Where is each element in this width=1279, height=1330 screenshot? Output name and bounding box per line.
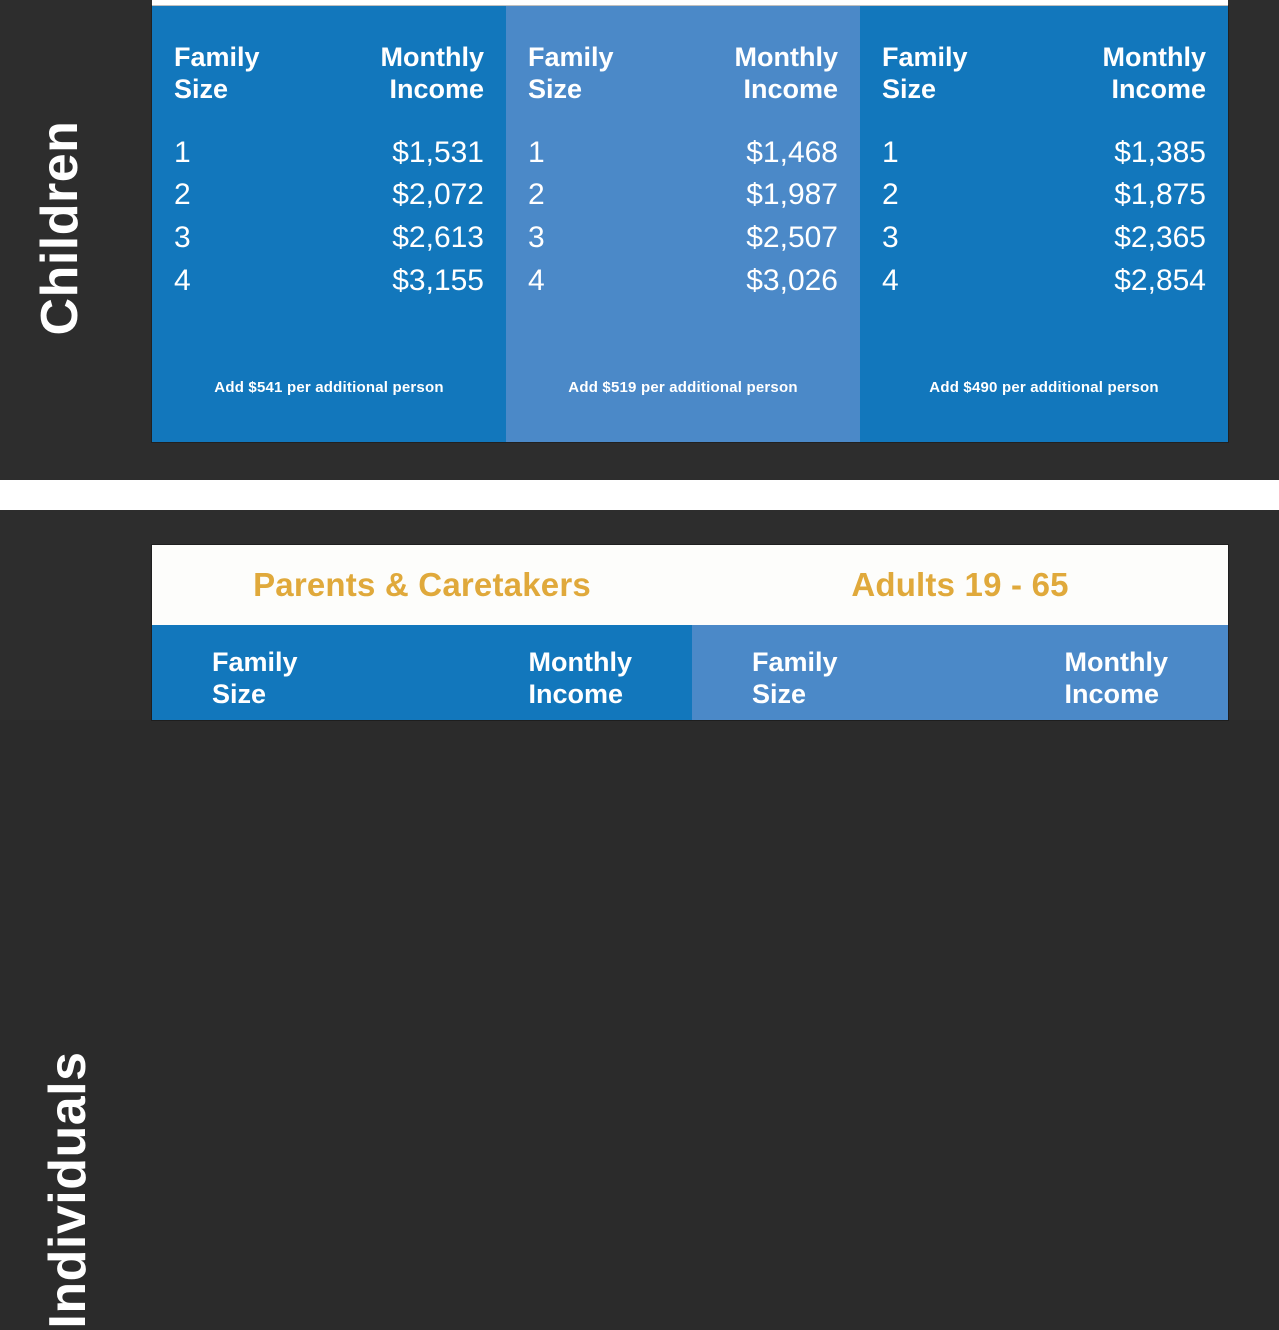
title-parents-caretakers: Parents & Caretakers bbox=[152, 545, 692, 625]
table-row: 1 $1,468 bbox=[528, 132, 838, 175]
children-column-2: Family Size Monthly Income 1 $1,468 2 bbox=[506, 6, 860, 442]
row-family-size: 3 bbox=[528, 217, 545, 260]
income-rows: 1 $1,531 2 $2,072 3 $2,613 4 $3,155 bbox=[174, 132, 484, 302]
row-monthly-income: $2,854 bbox=[1114, 260, 1206, 303]
row-family-size: 4 bbox=[174, 260, 191, 303]
table-row: 4 $3,155 bbox=[174, 260, 484, 303]
family-size-header-line1: Family bbox=[174, 42, 260, 74]
table-row: 3 $2,507 bbox=[528, 217, 838, 260]
family-size-header: Family Size bbox=[174, 42, 260, 106]
column-header: Family Size Monthly Income bbox=[212, 647, 632, 711]
row-family-size: 1 bbox=[882, 132, 899, 175]
table-row: 2 $1,987 bbox=[528, 174, 838, 217]
monthly-income-header-line2: Income bbox=[1103, 74, 1206, 106]
row-family-size: 3 bbox=[174, 217, 191, 260]
row-monthly-income: $1,987 bbox=[746, 174, 838, 217]
family-size-header-line1: Family bbox=[752, 647, 838, 679]
monthly-income-header-line1: Monthly bbox=[1103, 42, 1206, 74]
row-monthly-income: $2,613 bbox=[392, 217, 484, 260]
monthly-income-header: Monthly Income bbox=[735, 42, 838, 106]
family-size-header-line1: Family bbox=[882, 42, 968, 74]
table-row: 4 $2,854 bbox=[882, 260, 1206, 303]
row-family-size: 3 bbox=[882, 217, 899, 260]
income-rows: 1 $1,385 2 $1,875 3 $2,365 4 $2,854 bbox=[882, 132, 1206, 302]
family-size-header-line2: Size bbox=[752, 679, 838, 711]
additional-person-note: Add $541 per additional person bbox=[152, 379, 506, 396]
family-size-header-line2: Size bbox=[174, 74, 260, 106]
monthly-income-header-line1: Monthly bbox=[1065, 647, 1168, 679]
table-row: 1 $1,385 bbox=[882, 132, 1206, 175]
table-row: 2 $2,072 bbox=[174, 174, 484, 217]
monthly-income-header-line1: Monthly bbox=[381, 42, 484, 74]
section-label-individuals: Individuals bbox=[38, 1050, 98, 1330]
row-monthly-income: $3,155 bbox=[392, 260, 484, 303]
section-separator-band bbox=[0, 480, 1279, 510]
section-label-children: Children bbox=[30, 88, 90, 368]
column-header: Family Size Monthly Income bbox=[528, 42, 838, 106]
family-size-header-line2: Size bbox=[882, 74, 968, 106]
table-row: 4 $3,026 bbox=[528, 260, 838, 303]
monthly-income-header-line1: Monthly bbox=[529, 647, 632, 679]
children-column-3: Family Size Monthly Income 1 $1,385 2 bbox=[860, 6, 1228, 442]
children-table-card: Family Size Monthly Income 1 $1,531 2 bbox=[152, 6, 1228, 442]
family-size-header: Family Size bbox=[882, 42, 968, 106]
monthly-income-header: Monthly Income bbox=[529, 647, 632, 711]
monthly-income-header-line2: Income bbox=[1065, 679, 1168, 711]
additional-person-note: Add $519 per additional person bbox=[506, 379, 860, 396]
row-monthly-income: $1,468 bbox=[746, 132, 838, 175]
section-individuals: Parents & Caretakers Adults 19 - 65 Fami… bbox=[0, 510, 1279, 720]
row-family-size: 2 bbox=[882, 174, 899, 217]
monthly-income-header-line2: Income bbox=[381, 74, 484, 106]
row-family-size: 1 bbox=[174, 132, 191, 175]
column-header: Family Size Monthly Income bbox=[882, 42, 1206, 106]
family-size-header: Family Size bbox=[752, 647, 838, 711]
family-size-header-line2: Size bbox=[528, 74, 614, 106]
section-children: Children Family Size Monthly Income 1 bbox=[0, 0, 1279, 480]
row-monthly-income: $2,507 bbox=[746, 217, 838, 260]
additional-person-note: Add $490 per additional person bbox=[860, 379, 1228, 396]
monthly-income-header: Monthly Income bbox=[1065, 647, 1168, 711]
row-monthly-income: $1,875 bbox=[1114, 174, 1206, 217]
monthly-income-header: Monthly Income bbox=[1103, 42, 1206, 106]
row-family-size: 1 bbox=[528, 132, 545, 175]
infographic-page: Children Family Size Monthly Income 1 bbox=[0, 0, 1279, 720]
monthly-income-header-line1: Monthly bbox=[735, 42, 838, 74]
table-row: 1 $1,531 bbox=[174, 132, 484, 175]
individuals-column-2: Family Size Monthly Income bbox=[692, 625, 1228, 720]
individuals-table-card: Parents & Caretakers Adults 19 - 65 Fami… bbox=[152, 545, 1228, 720]
individuals-title-bar: Parents & Caretakers Adults 19 - 65 bbox=[152, 545, 1228, 625]
column-header: Family Size Monthly Income bbox=[752, 647, 1168, 711]
row-monthly-income: $3,026 bbox=[746, 260, 838, 303]
row-family-size: 2 bbox=[174, 174, 191, 217]
row-monthly-income: $1,531 bbox=[392, 132, 484, 175]
individuals-column-1: Family Size Monthly Income bbox=[152, 625, 692, 720]
children-column-1: Family Size Monthly Income 1 $1,531 2 bbox=[152, 6, 506, 442]
row-family-size: 4 bbox=[528, 260, 545, 303]
family-size-header: Family Size bbox=[212, 647, 298, 711]
column-header: Family Size Monthly Income bbox=[174, 42, 484, 106]
row-family-size: 4 bbox=[882, 260, 899, 303]
family-size-header: Family Size bbox=[528, 42, 614, 106]
family-size-header-line1: Family bbox=[212, 647, 298, 679]
row-family-size: 2 bbox=[528, 174, 545, 217]
family-size-header-line1: Family bbox=[528, 42, 614, 74]
title-adults-19-65: Adults 19 - 65 bbox=[692, 545, 1228, 625]
table-row: 3 $2,613 bbox=[174, 217, 484, 260]
income-rows: 1 $1,468 2 $1,987 3 $2,507 4 $3,026 bbox=[528, 132, 838, 302]
individuals-table-body: Family Size Monthly Income Family Size bbox=[152, 625, 1228, 720]
family-size-header-line2: Size bbox=[212, 679, 298, 711]
table-row: 2 $1,875 bbox=[882, 174, 1206, 217]
row-monthly-income: $2,072 bbox=[392, 174, 484, 217]
row-monthly-income: $2,365 bbox=[1114, 217, 1206, 260]
monthly-income-header-line2: Income bbox=[529, 679, 632, 711]
table-row: 3 $2,365 bbox=[882, 217, 1206, 260]
row-monthly-income: $1,385 bbox=[1114, 132, 1206, 175]
monthly-income-header-line2: Income bbox=[735, 74, 838, 106]
monthly-income-header: Monthly Income bbox=[381, 42, 484, 106]
